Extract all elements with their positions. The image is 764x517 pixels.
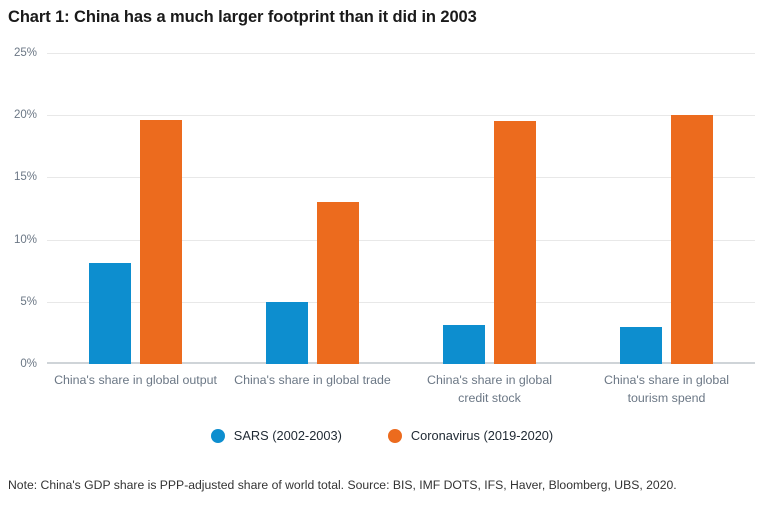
category-label: China's share in globaltourism spend <box>578 371 755 407</box>
legend-item[interactable]: SARS (2002-2003) <box>211 428 342 443</box>
bar <box>494 121 536 364</box>
category-label-line: credit stock <box>401 389 578 407</box>
category-label: China's share in global output <box>47 371 224 389</box>
y-axis-tick-label: 5% <box>0 296 37 308</box>
bar <box>620 327 662 364</box>
category-label: China's share in global trade <box>224 371 401 389</box>
bar <box>140 120 182 364</box>
plot-area: 0%5%10%15%20%25% <box>47 53 755 364</box>
chart-legend: SARS (2002-2003)Coronavirus (2019-2020) <box>0 428 764 443</box>
legend-marker-icon <box>388 429 402 443</box>
chart-title: Chart 1: China has a much larger footpri… <box>8 8 477 27</box>
y-axis-tick-label: 25% <box>0 47 37 59</box>
y-axis-tick-label: 15% <box>0 171 37 183</box>
category-label-line: China's share in global trade <box>224 371 401 389</box>
category-axis-labels: China's share in global outputChina's sh… <box>47 371 755 417</box>
gridline <box>47 115 755 116</box>
category-label-line: China's share in global output <box>47 371 224 389</box>
legend-item[interactable]: Coronavirus (2019-2020) <box>388 428 553 443</box>
bar <box>266 302 308 364</box>
y-axis-tick-label: 0% <box>0 358 37 370</box>
y-axis-tick-label: 10% <box>0 234 37 246</box>
bar <box>89 263 131 364</box>
category-label-line: China's share in global <box>578 371 755 389</box>
bar <box>671 115 713 364</box>
legend-label: SARS (2002-2003) <box>234 428 342 443</box>
bar <box>317 202 359 364</box>
chart-footnote: Note: China's GDP share is PPP-adjusted … <box>8 476 752 495</box>
category-label: China's share in globalcredit stock <box>401 371 578 407</box>
y-axis-tick-label: 20% <box>0 109 37 121</box>
legend-marker-icon <box>211 429 225 443</box>
category-label-line: tourism spend <box>578 389 755 407</box>
gridline <box>47 53 755 54</box>
legend-label: Coronavirus (2019-2020) <box>411 428 553 443</box>
category-label-line: China's share in global <box>401 371 578 389</box>
bar <box>443 325 485 364</box>
